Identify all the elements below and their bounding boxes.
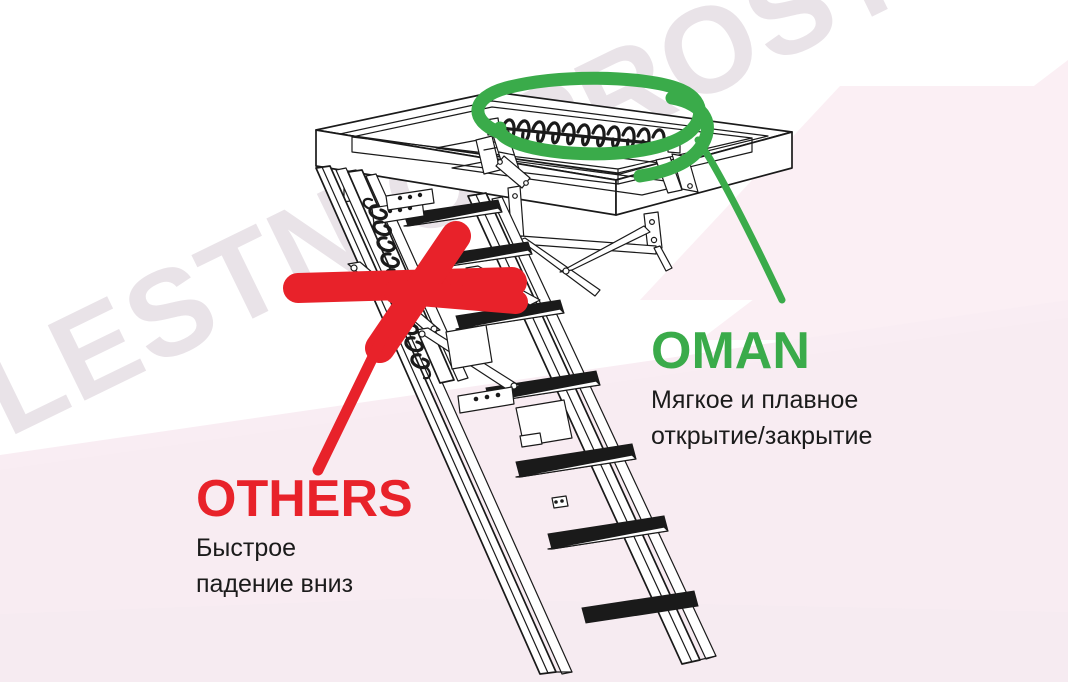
others-subtitle-line2: падение вниз (196, 567, 413, 603)
others-title: OTHERS (196, 473, 413, 525)
oman-subtitle-line2: открытие/закрытие (651, 419, 872, 455)
others-label-block: OTHERS Быстрое падение вниз (196, 473, 413, 602)
oman-label-block: OMAN Мягкое и плавное открытие/закрытие (651, 325, 872, 454)
oman-subtitle-line1: Мягкое и плавное (651, 383, 872, 419)
red-arrow-cross (0, 0, 1068, 682)
others-subtitle-line1: Быстрое (196, 531, 413, 567)
oman-title: OMAN (651, 325, 872, 377)
illustration-canvas: LESTNIC-PROSTO.RU .ln{fill:none;stroke:#… (0, 0, 1068, 682)
